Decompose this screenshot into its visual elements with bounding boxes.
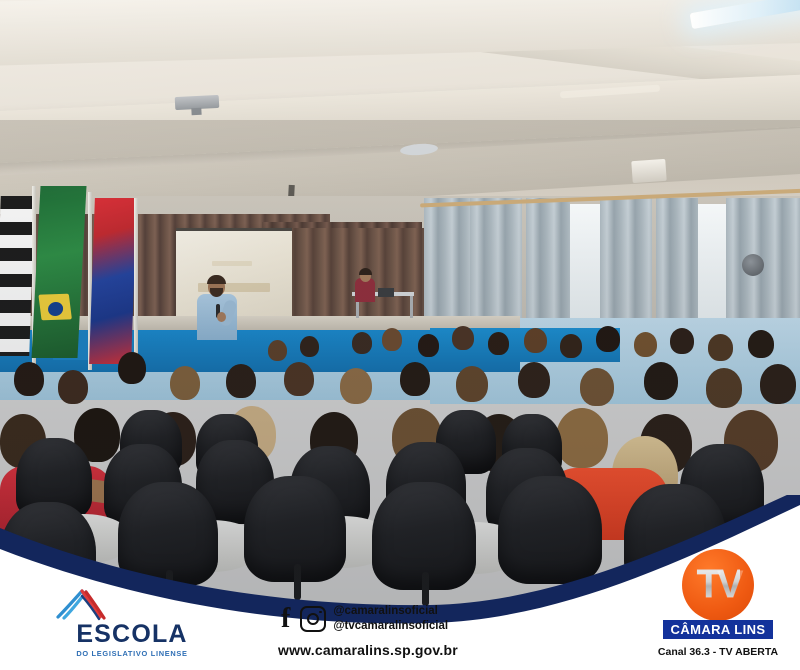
audience-head — [118, 352, 146, 384]
audience-head — [14, 362, 44, 396]
audience-head — [300, 336, 319, 357]
social-block: f @camaralinsoficial @tvcamaralinsoficia… — [278, 604, 458, 658]
tv-name-bar: CÂMARA LINS — [663, 620, 774, 639]
escola-name: ESCOLA — [52, 622, 212, 647]
tv-camara-lins-logo: TV CÂMARA LINS Canal 36.3 - TV ABERTA — [648, 549, 788, 658]
audience-head — [560, 334, 582, 358]
audience-head — [596, 326, 620, 352]
social-handles: @camaralinsoficial @tvcamaralinsoficial — [333, 604, 448, 635]
audience-head — [556, 408, 608, 468]
audience-head — [634, 332, 657, 357]
audience-head — [268, 340, 287, 361]
tv-logo-circle: TV — [682, 549, 754, 621]
audience-head — [418, 334, 439, 357]
audience-head — [382, 328, 402, 351]
audience-head — [488, 332, 509, 355]
audience-head — [580, 368, 614, 406]
audience-head — [518, 362, 550, 398]
projection-screen-text-top — [212, 261, 252, 266]
wall-fan-icon — [742, 254, 764, 276]
instagram-icon[interactable] — [300, 606, 326, 632]
audience-head — [708, 334, 733, 361]
audience-head — [340, 368, 372, 404]
audience-head — [400, 362, 430, 396]
audience-head — [706, 368, 742, 408]
escola-subtitle: DO LEGISLATIVO LINENSE — [52, 649, 212, 658]
audience-head — [452, 326, 474, 350]
audience-head — [524, 328, 547, 353]
laptop-icon — [378, 288, 394, 297]
audience-head — [644, 362, 678, 400]
audience-head — [748, 330, 774, 358]
escola-logo: ESCOLA DO LEGISLATIVO LINENSE — [52, 587, 212, 658]
handle-facebook: @camaralinsoficial — [333, 604, 448, 620]
screenshot-root: ESCOLA DO LEGISLATIVO LINENSE f @camaral… — [0, 0, 800, 670]
audience-head — [456, 366, 488, 402]
audience-head — [670, 328, 694, 354]
audience-head — [170, 366, 200, 400]
handle-instagram: @tvcamaralinsoficial — [333, 619, 448, 635]
wall-speaker-icon — [631, 159, 666, 183]
audience-head — [352, 332, 372, 354]
ceiling-projector-icon — [175, 95, 220, 110]
audience-head — [226, 364, 256, 398]
facebook-icon[interactable]: f — [278, 605, 293, 633]
institutional-banner: ESCOLA DO LEGISLATIVO LINENSE f @camaral… — [0, 495, 800, 670]
social-handles-row: f @camaralinsoficial @tvcamaralinsoficia… — [278, 604, 458, 635]
website-url[interactable]: www.camaralins.sp.gov.br — [278, 642, 458, 658]
stage-table-leg-right — [410, 296, 413, 318]
stage-assistant-hair — [359, 268, 372, 275]
audience-head — [284, 362, 314, 396]
audience-head — [58, 370, 88, 404]
tv-channel-label: Canal 36.3 - TV ABERTA — [648, 646, 788, 658]
tv-logo-text: TV — [696, 564, 739, 604]
book-arrow-icon — [52, 587, 212, 621]
audience-head — [760, 364, 796, 404]
